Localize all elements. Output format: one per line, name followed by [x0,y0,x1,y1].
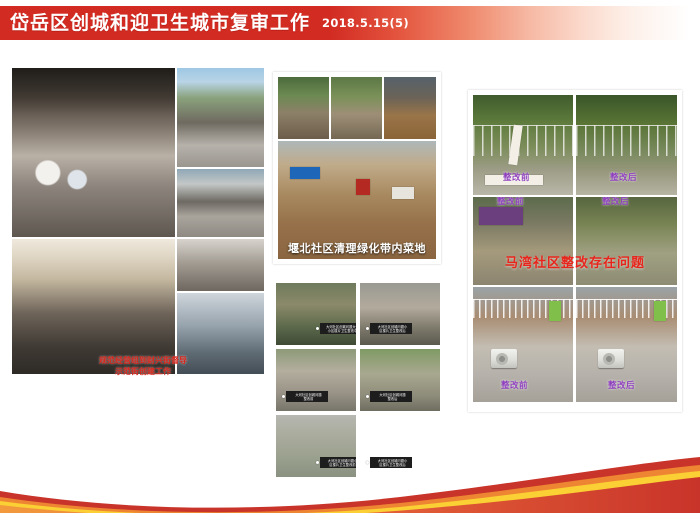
label-after-1: 整改后 [610,171,637,183]
photo-ac-unit-after: 整改后 [576,287,677,402]
awning-purple [479,207,523,225]
shop-sign-red [356,179,370,195]
footer-wave [0,457,700,513]
grid-photo-1: 大河社区创城问题大河 小区楼片卫生整改中 [276,283,356,345]
right-panel-caption: 马湾社区整改存在问题 [468,252,682,271]
shop-sign-blue [290,167,320,179]
green-sign-2 [654,301,666,321]
grid-photo-4: 大河社区创城问题 整改后 [360,349,440,411]
green-sign-1 [549,301,561,321]
ac-outdoor-unit-2 [598,349,624,368]
label-after-3: 整改后 [608,379,635,391]
tag-dot-3 [282,395,285,398]
photo-shop-inspection [12,239,175,374]
grid-tag-1: 大河社区创城问题大河 小区楼片卫生整改中 [320,323,356,334]
photo-street-inspection [177,68,264,167]
parked-van [392,187,414,199]
left-caption-line1: 规范经营组到财兴街督导 [58,356,228,366]
grid-photo-2: 大河社区创城问题小 区楼片卫生整改后 [360,283,440,345]
grid-tag-2: 大河社区创城问题小 区楼片卫生整改后 [370,323,412,334]
grid-photo-3: 大河社区创城问题 整改前 [276,349,356,411]
middle-top-panel: 堰北社区清理绿化带内菜地 [273,72,441,264]
photo-street-walk [177,169,264,237]
middle-top-caption: 堰北社区清理绿化带内菜地 [273,240,441,256]
page-header: 岱岳区创城和迎卫生城市复审工作 2018.5.15(5) [0,6,700,40]
grid-tag-4: 大河社区创城问题 整改后 [370,391,412,402]
photo-ac-unit-before: 整改前 [473,287,573,402]
photo-greenbelt-plot-b [331,77,382,139]
middle-photo-grid: 大河社区创城问题大河 小区楼片卫生整改中 大河社区创城问题小 区楼片卫生整改后 … [276,283,442,480]
left-photo-cluster: 规范经营组到财兴街督导 示范街创建工作 [12,68,264,408]
label-before-1: 整改前 [503,171,530,183]
tag-dot-4 [366,395,369,398]
photo-steps-before: 整改前 [473,197,573,285]
grid-tag-3: 大河社区创城问题 整改前 [286,391,328,402]
page-footer [0,457,700,513]
photo-greenbelt-plot-a [278,77,329,139]
label-before-2: 整改前 [497,197,524,207]
header-date: 2018.5.15(5) [322,16,409,30]
photo-shop-corridor [177,239,264,291]
photo-fence-before: 整改前 [473,95,573,195]
photo-lobby-inspection [12,68,175,237]
tag-dot-2 [366,327,369,330]
ac-outdoor-unit-1 [491,349,517,368]
tag-dot-1 [316,327,319,330]
right-photo-panel: 整改前 整改后 整改前 整改后 整改前 整改后 马湾社区整改存在问题 [468,90,682,412]
label-after-2: 整改后 [602,197,629,207]
photo-steps-after: 整改后 [576,197,677,285]
label-before-3: 整改前 [501,379,528,391]
page-title: 岱岳区创城和迎卫生城市复审工作 [10,6,310,40]
left-caption-line2: 示范街创建工作 [58,367,228,377]
photo-fence-after: 整改后 [576,95,677,195]
photo-greenbelt-clearing [384,77,436,139]
